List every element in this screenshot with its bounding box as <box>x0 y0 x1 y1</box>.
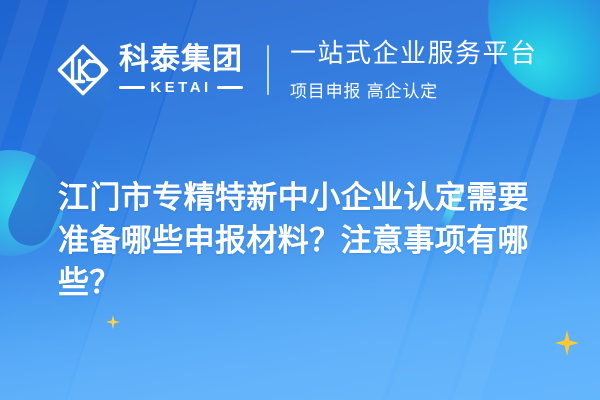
rule-right-icon <box>217 86 243 89</box>
page-title: 江门市专精特新中小企业认定需要准备哪些申报材料？注意事项有哪些？ <box>58 177 556 305</box>
brand-logo[interactable]: 科泰集团 KETAI <box>56 43 243 97</box>
brand-name-cn: 科泰集团 <box>119 45 243 75</box>
banner-header: 科泰集团 KETAI 一站式企业服务平台 项目申报 高企认定 <box>0 0 600 140</box>
brand-name-en: KETAI <box>150 80 211 95</box>
tagline-secondary: 项目申报 高企认定 <box>290 77 538 102</box>
brand-wordmark: 科泰集团 KETAI <box>119 45 243 95</box>
tagline-primary: 一站式企业服务平台 <box>290 38 538 69</box>
ketai-diamond-kd-monogram-icon <box>56 43 110 97</box>
brand-name-en-row: KETAI <box>119 80 243 95</box>
promo-banner: 科泰集团 KETAI 一站式企业服务平台 项目申报 高企认定 江门市专精特新中小… <box>0 0 600 400</box>
tagline-block: 一站式企业服务平台 项目申报 高企认定 <box>290 38 538 101</box>
vertical-divider <box>267 45 269 95</box>
rule-left-icon <box>119 86 145 89</box>
